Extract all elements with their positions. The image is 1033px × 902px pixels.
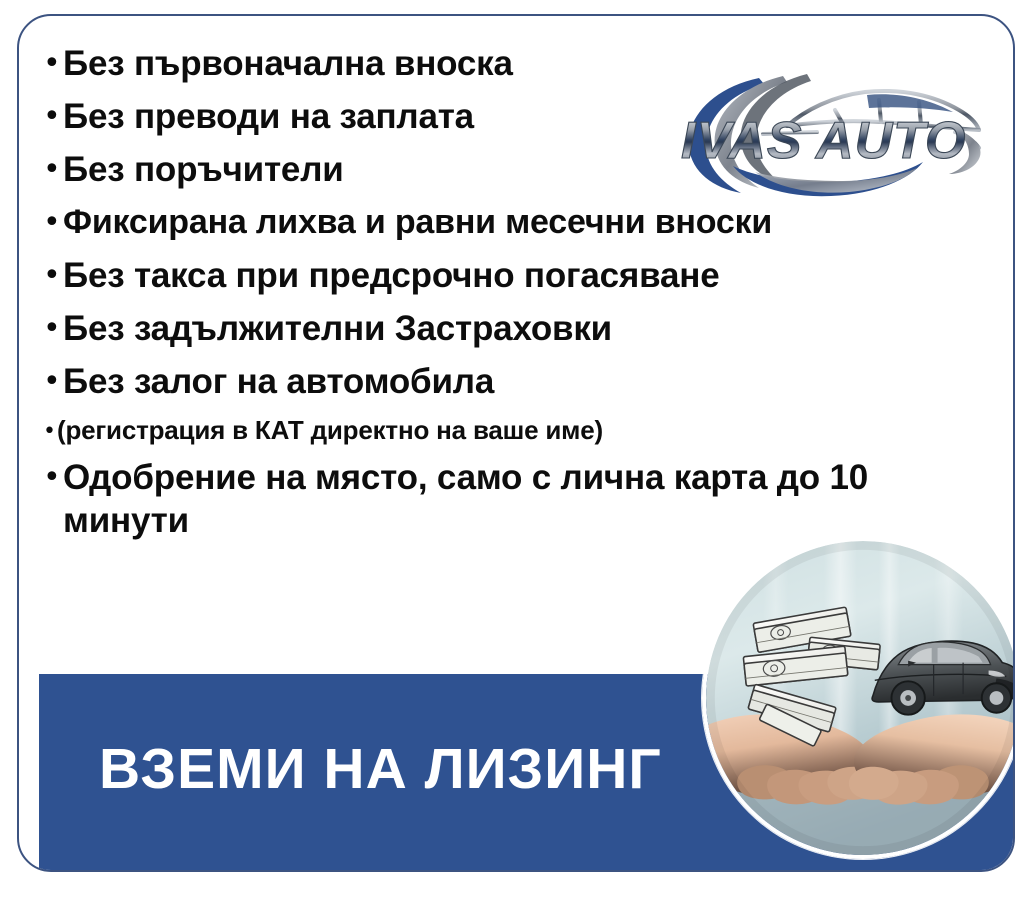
- ivas-auto-logo: IVAS AUTO: [667, 62, 997, 197]
- leasing-poster: • Без първоначална вноска • Без преводи …: [0, 0, 1033, 902]
- bullet-dot-icon: •: [43, 360, 63, 404]
- list-item-note-label: (регистрация в КАТ директно на ваше име): [57, 414, 1003, 447]
- bullet-dot-icon: •: [43, 414, 57, 450]
- list-item: • Без такса при предсрочно погасяване: [43, 254, 1003, 298]
- list-item: • Без задължителни Застраховки: [43, 307, 1003, 351]
- bullet-dot-icon: •: [43, 254, 63, 298]
- list-item-note: • (регистрация в КАТ директно на ваше им…: [43, 414, 1003, 450]
- list-item-label: Одобрение на място, само с лична карта д…: [63, 456, 1003, 543]
- list-item-label: Фиксирана лихва и равни месечни вноски: [63, 201, 1003, 244]
- bullet-dot-icon: •: [43, 42, 63, 86]
- bullet-dot-icon: •: [43, 95, 63, 139]
- list-item: • Фиксирана лихва и равни месечни вноски: [43, 201, 1003, 245]
- poster-frame: • Без първоначална вноска • Без преводи …: [17, 14, 1015, 872]
- list-item: • Без залог на автомобила: [43, 360, 1003, 404]
- list-item-label: Без залог на автомобила: [63, 360, 1003, 404]
- list-item-label: Без такса при предсрочно погасяване: [63, 254, 1003, 298]
- logo-wordmark: IVAS AUTO: [681, 112, 966, 170]
- list-item-label: Без задължителни Застраховки: [63, 307, 1003, 351]
- bullet-dot-icon: •: [43, 148, 63, 192]
- list-item: • Одобрение на място, само с лична карта…: [43, 456, 1003, 543]
- bullet-dot-icon: •: [43, 456, 63, 500]
- bullet-dot-icon: •: [43, 201, 63, 245]
- cta-headline: ВЗЕМИ НА ЛИЗИНГ: [99, 736, 662, 802]
- bullet-dot-icon: •: [43, 307, 63, 351]
- hands-money-car-photo: [702, 537, 1015, 859]
